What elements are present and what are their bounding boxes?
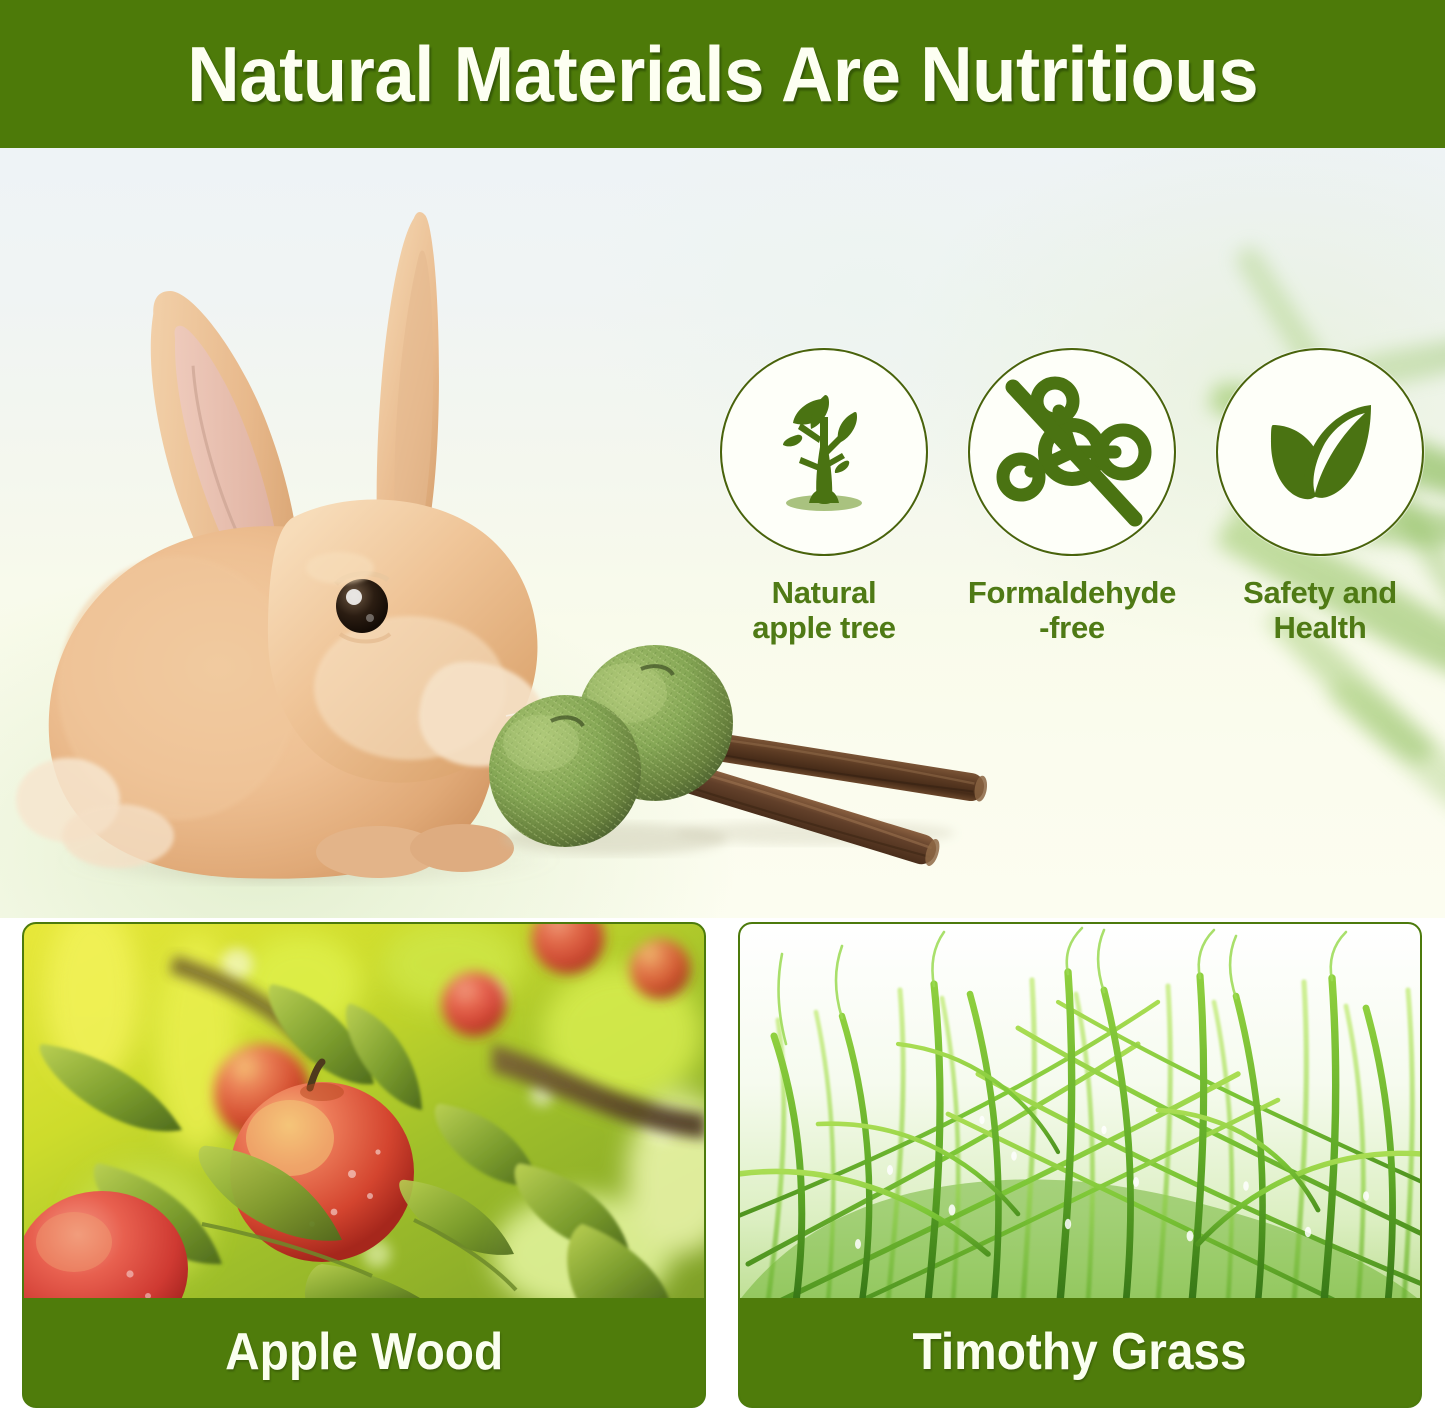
no-formaldehyde-molecule-icon <box>987 367 1157 537</box>
feature-label-line2: apple tree <box>752 610 895 645</box>
feature-icon-circle <box>1216 348 1424 556</box>
card-caption-bar: Apple Wood <box>24 1298 704 1406</box>
hero-section: Natural apple tree <box>0 148 1445 918</box>
feature-label: Natural apple tree <box>709 576 939 645</box>
card-caption-bar: Timothy Grass <box>740 1298 1420 1406</box>
two-leaves-icon <box>1245 377 1395 527</box>
feature-label-line1: Safety and <box>1243 575 1397 610</box>
apple-tree-icon <box>749 377 899 527</box>
card-caption-text: Apple Wood <box>225 1322 503 1382</box>
feature-natural-apple-tree[interactable]: Natural apple tree <box>700 348 948 645</box>
material-card-apple-wood[interactable]: Apple Wood <box>22 922 706 1408</box>
feature-label-line1: Formaldehyde <box>968 575 1176 610</box>
chew-toy-product-photo <box>455 643 995 873</box>
feature-label: Safety and Health <box>1205 576 1435 645</box>
timothy-grass-photo <box>740 924 1420 1302</box>
feature-label-line2: Health <box>1274 610 1367 645</box>
card-caption-text: Timothy Grass <box>913 1322 1247 1382</box>
feature-icon-circle <box>720 348 928 556</box>
feature-label: Formaldehyde -free <box>947 576 1197 645</box>
feature-badges: Natural apple tree <box>700 348 1445 648</box>
header-banner: Natural Materials Are Nutritious <box>0 0 1445 148</box>
feature-label-line1: Natural <box>772 575 877 610</box>
feature-label-line2: -free <box>1039 610 1105 645</box>
apple-orchard-photo <box>24 924 704 1302</box>
material-cards: Apple Wood <box>0 918 1445 1416</box>
page-title: Natural Materials Are Nutritious <box>187 35 1258 113</box>
feature-safety-and-health[interactable]: Safety and Health <box>1196 348 1444 645</box>
material-card-timothy-grass[interactable]: Timothy Grass <box>738 922 1422 1408</box>
feature-icon-circle <box>968 348 1176 556</box>
feature-formaldehyde-free[interactable]: Formaldehyde -free <box>948 348 1196 645</box>
